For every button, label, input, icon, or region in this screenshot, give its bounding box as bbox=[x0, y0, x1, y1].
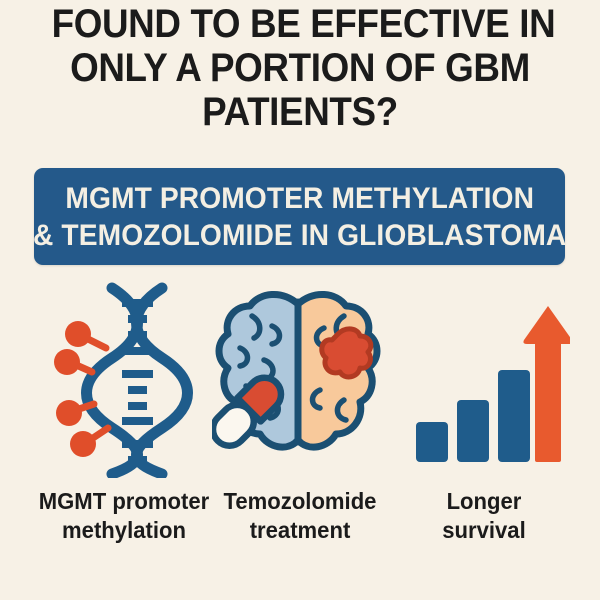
title-banner-text: MGMT PROMOTER METHYLATION & TEMOZOLOMIDE… bbox=[33, 180, 566, 254]
bar-2 bbox=[457, 400, 489, 462]
caption-line: Temozolomide bbox=[216, 487, 385, 516]
caption-line: MGMT promoter bbox=[28, 487, 220, 516]
headline-line-3: PATIENTS? bbox=[52, 90, 549, 134]
growth-bar-chart-arrow-icon bbox=[392, 282, 578, 478]
caption-line: treatment bbox=[216, 516, 385, 545]
headline-line-2: ONLY A PORTION OF GBM bbox=[52, 46, 549, 90]
title-banner-line-2: & TEMOZOLOMIDE IN GLIOBLASTOMA bbox=[33, 217, 566, 254]
caption-line: survival bbox=[390, 516, 578, 545]
caption-longer-survival: Longer survival bbox=[390, 487, 578, 545]
headline-line-1: FOUND TO BE EFFECTIVE IN bbox=[52, 2, 549, 46]
dna-helix-icon bbox=[32, 282, 218, 478]
caption-temozolomide-treatment: Temozolomide treatment bbox=[216, 487, 385, 545]
brain-with-pill-icon bbox=[212, 282, 388, 478]
headline: FOUND TO BE EFFECTIVE IN ONLY A PORTION … bbox=[52, 2, 549, 134]
caption-row: MGMT promoter methylation Temozolomide t… bbox=[0, 487, 600, 567]
chart-bars bbox=[416, 370, 530, 462]
title-banner-line-1: MGMT PROMOTER METHYLATION bbox=[33, 180, 566, 217]
bar-3 bbox=[498, 370, 530, 462]
caption-mgmt-promoter-methylation: MGMT promoter methylation bbox=[28, 487, 220, 545]
infographic-canvas: FOUND TO BE EFFECTIVE IN ONLY A PORTION … bbox=[0, 0, 600, 600]
title-banner: MGMT PROMOTER METHYLATION & TEMOZOLOMIDE… bbox=[34, 168, 565, 265]
caption-line: methylation bbox=[28, 516, 220, 545]
growth-arrow bbox=[523, 306, 570, 462]
icon-row bbox=[0, 282, 600, 482]
caption-line: Longer bbox=[390, 487, 578, 516]
bar-1 bbox=[416, 422, 448, 462]
